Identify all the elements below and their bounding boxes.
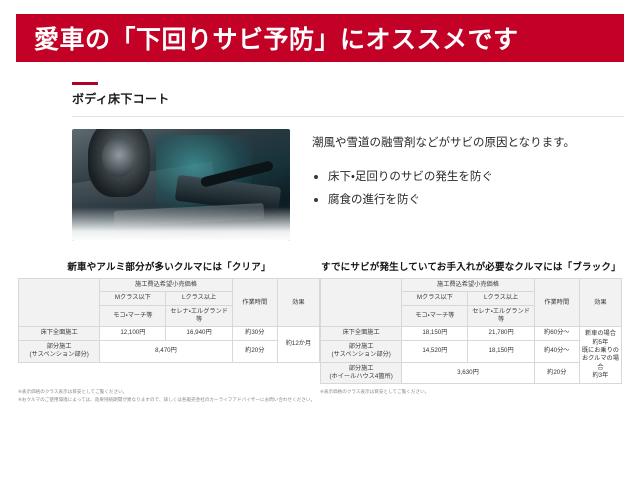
table-row: 部分施工(ホイールハウス4箇所) 3,630円 約20分 (321, 362, 622, 384)
table-row: 床下全面施工 12,100円 16,940円 約30分 約12か月 (19, 327, 320, 340)
table-caption: 新車やアルミ部分が多いクルマには「クリア」 (18, 259, 320, 273)
banner-title: 愛車の「下回りサビ予防」にオススメです (34, 20, 519, 56)
header-banner: 愛車の「下回りサビ予防」にオススメです (16, 14, 624, 62)
header-class-l: Lクラス以上 (166, 292, 232, 305)
photo-bottom-fade (72, 207, 290, 241)
table-header-row: 施工費込希望小売価格 作業時間 効果 (321, 279, 622, 292)
header-time: 作業時間 (534, 279, 579, 327)
row-name: 部分施工(サスペンション部分) (19, 340, 100, 362)
row-time: 約20分 (534, 362, 579, 384)
copy-block: 潮風や雪道の融雪剤などがサビの原因となります。 床下・足回りのサビの発生を防ぐ … (290, 129, 575, 241)
list-item: 腐食の進行を防ぐ (312, 189, 575, 211)
content-area: 潮風や雪道の融雪剤などがサビの原因となります。 床下・足回りのサビの発生を防ぐ … (16, 129, 624, 241)
row-name: 床下全面施工 (321, 327, 402, 340)
footnote-text: ※表示価格のクラス表示は目安としてご覧ください。※おクルマのご使用環境によっては… (18, 388, 320, 403)
section-divider (72, 116, 624, 117)
footnote-text: ※表示価格のクラス表示は目安としてご覧ください。 (320, 388, 622, 395)
header-class-m: Mクラス以下 (402, 292, 468, 305)
benefit-list: 床下・足回りのサビの発生を防ぐ 腐食の進行を防ぐ (312, 166, 575, 211)
header-effect: 効果 (277, 279, 319, 327)
table-black: 施工費込希望小売価格 作業時間 効果 Mクラス以下 Lクラス以上 モコ・マーチ等… (320, 278, 622, 384)
table-row: 部分施工(サスペンション部分) 8,470円 約20分 (19, 340, 320, 362)
table-clear: 施工費込希望小売価格 作業時間 効果 Mクラス以下 Lクラス以上 モコ・マーチ等… (18, 278, 320, 363)
row-price-l: 21,780円 (468, 327, 534, 340)
row-price-l: 16,940円 (166, 327, 232, 340)
row-name: 部分施工(サスペンション部分) (321, 340, 402, 362)
table-row: 床下全面施工 18,150円 21,780円 約60分〜 新車の場合約5年既にお… (321, 327, 622, 340)
photo-wheel-rim (102, 137, 136, 177)
list-item: 床下・足回りのサビの発生を防ぐ (312, 166, 575, 188)
accent-bar (72, 82, 98, 85)
row-time: 約40分〜 (534, 340, 579, 362)
row-price-merged: 3,630円 (402, 362, 534, 384)
row-name: 床下全面施工 (19, 327, 100, 340)
row-price-merged: 8,470円 (100, 340, 232, 362)
header-price-group: 施工費込希望小売価格 (402, 279, 534, 292)
row-time: 約30分 (232, 327, 277, 340)
row-price-m: 18,150円 (402, 327, 468, 340)
ad-page: 愛車の「下回りサビ予防」にオススメです ボディ床下コート 潮風や雪道の融雪剤など… (0, 0, 640, 480)
row-effect: 新車の場合約5年既にお乗りのおクルマの場合約3年 (579, 327, 621, 384)
price-table-clear: 新車やアルミ部分が多いクルマには「クリア」 施工費込希望小売価格 作業時間 効果… (18, 259, 320, 384)
row-time: 約60分〜 (534, 327, 579, 340)
row-name: 部分施工(ホイールハウス4箇所) (321, 362, 402, 384)
header-blank (321, 279, 402, 327)
row-price-m: 14,520円 (402, 340, 468, 362)
car-undercarriage-photo (72, 129, 290, 241)
price-tables: 新車やアルミ部分が多いクルマには「クリア」 施工費込希望小売価格 作業時間 効果… (16, 259, 624, 384)
header-price-group: 施工費込希望小売価格 (100, 279, 232, 292)
footnote-left-col: ※表示価格のクラス表示は目安としてご覧ください。※おクルマのご使用環境によっては… (18, 388, 320, 403)
header-blank (19, 279, 100, 327)
price-table-black: すでにサビが発生していてお手入れが必要なクルマには「ブラック」 施工費込希望小売… (320, 259, 622, 384)
row-time: 約20分 (232, 340, 277, 362)
header-example-m: モコ・マーチ等 (402, 305, 468, 327)
footnote-right-col: ※表示価格のクラス表示は目安としてご覧ください。 (320, 388, 622, 403)
row-price-l: 18,150円 (468, 340, 534, 362)
row-price-m: 12,100円 (100, 327, 166, 340)
lead-text: 潮風や雪道の融雪剤などがサビの原因となります。 (312, 135, 575, 152)
section-heading: ボディ床下コート (16, 82, 624, 117)
table-header-row: 施工費込希望小売価格 作業時間 効果 (19, 279, 320, 292)
header-class-l: Lクラス以上 (468, 292, 534, 305)
header-example-l: セレナ・エルグランド等 (468, 305, 534, 327)
table-row: 部分施工(サスペンション部分) 14,520円 18,150円 約40分〜 (321, 340, 622, 362)
header-effect: 効果 (579, 279, 621, 327)
header-time: 作業時間 (232, 279, 277, 327)
header-class-m: Mクラス以下 (100, 292, 166, 305)
table-caption: すでにサビが発生していてお手入れが必要なクルマには「ブラック」 (320, 259, 622, 273)
section-title: ボディ床下コート (72, 90, 624, 107)
row-effect: 約12か月 (277, 327, 319, 362)
footnotes: ※表示価格のクラス表示は目安としてご覧ください。※おクルマのご使用環境によっては… (16, 388, 624, 403)
header-example-m: モコ・マーチ等 (100, 305, 166, 327)
header-example-l: セレナ・エルグランド等 (166, 305, 232, 327)
